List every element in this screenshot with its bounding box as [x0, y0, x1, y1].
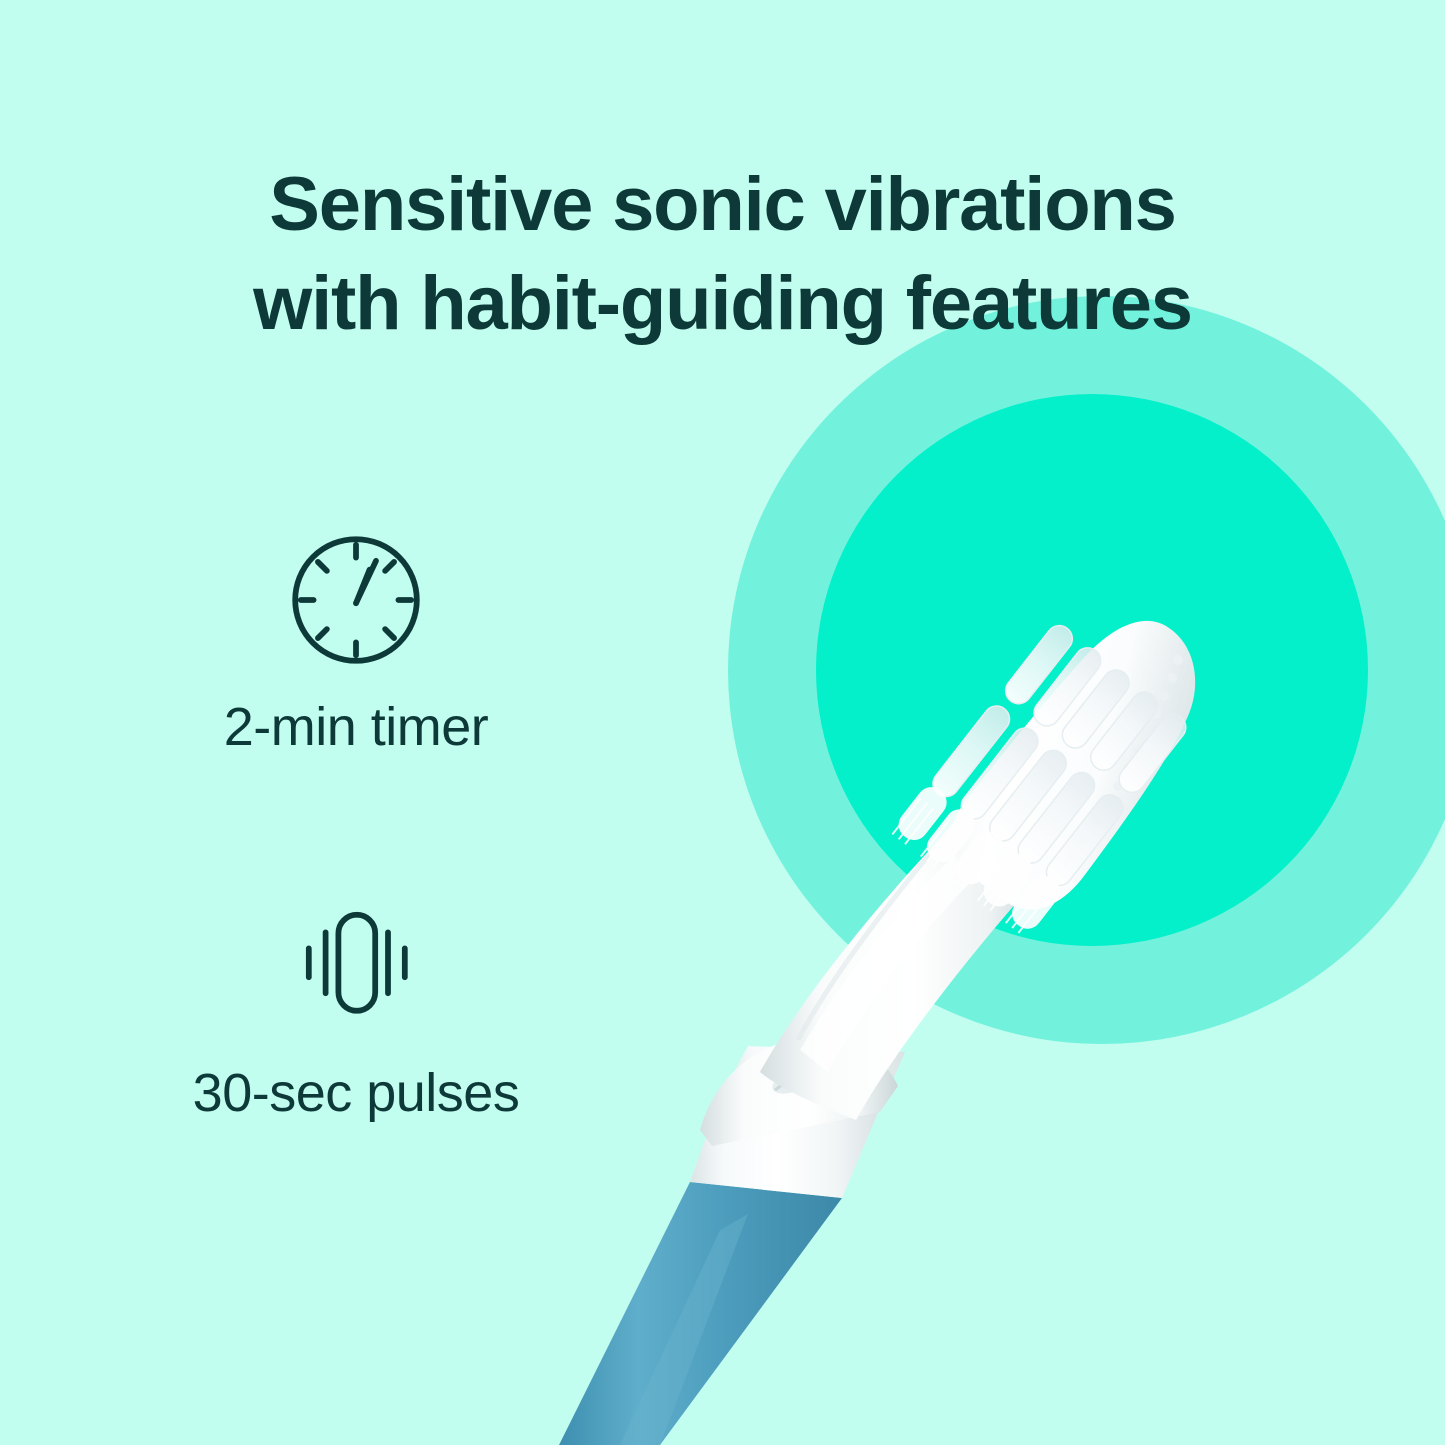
feature-list: 2-min timer 30-sec p	[96, 520, 616, 1252]
feature-label-pulses: 30-sec pulses	[96, 1062, 616, 1124]
brush-power-button-housing	[700, 1038, 898, 1146]
background-circle-inner	[816, 394, 1368, 946]
page-title-line-2: with habit-guiding features	[0, 254, 1445, 353]
feature-item-pulses: 30-sec pulses	[96, 886, 616, 1124]
brush-body	[690, 1046, 905, 1198]
product-feature-banner: Sensitive sonic vibrations with habit-gu…	[0, 0, 1445, 1445]
page-title-line-1: Sensitive sonic vibrations	[0, 155, 1445, 254]
clock-icon	[96, 520, 616, 680]
feature-label-timer: 2-min timer	[96, 696, 616, 758]
vibration-pulse-icon	[96, 886, 616, 1046]
feature-item-timer: 2-min timer	[96, 520, 616, 758]
power-button-icon	[769, 1061, 822, 1099]
page-title: Sensitive sonic vibrations with habit-gu…	[0, 155, 1445, 353]
